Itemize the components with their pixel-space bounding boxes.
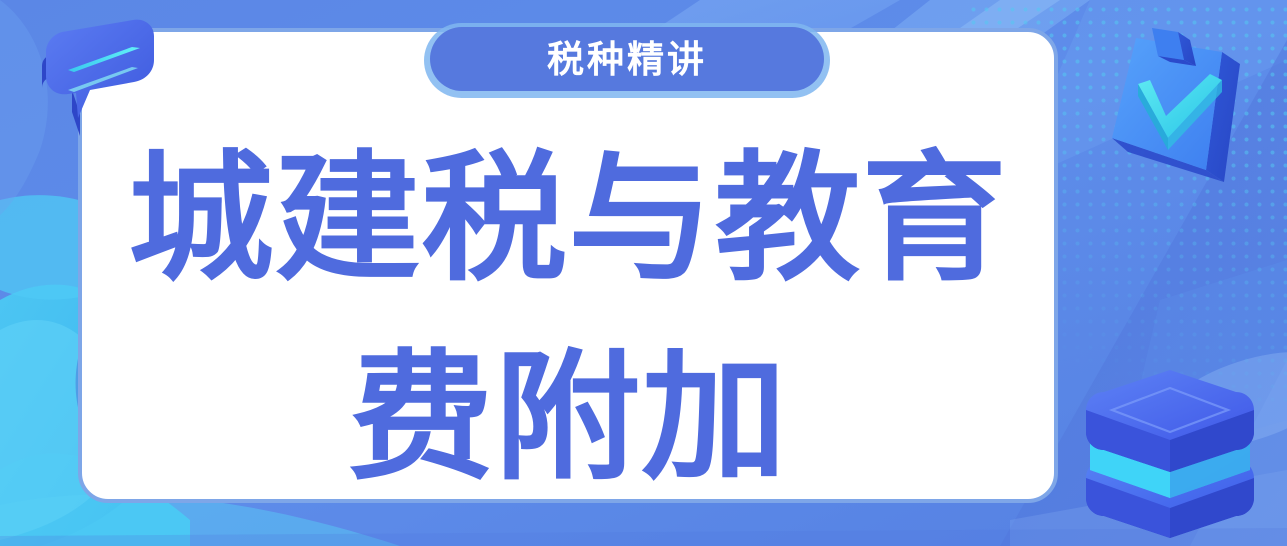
category-badge[interactable]: 税种精讲 xyxy=(430,27,824,91)
banner-root: 税种精讲 城建税与教育 费附加 xyxy=(0,0,1287,546)
stacked-cube-icon xyxy=(1072,346,1268,538)
page-title: 城建税与教育 费附加 xyxy=(78,120,1058,518)
page-title-line-1: 城建税与教育 xyxy=(58,120,1077,319)
speech-bubble-icon xyxy=(28,14,170,152)
page-title-line-2: 费附加 xyxy=(58,319,1077,518)
clipboard-check-icon xyxy=(1092,20,1260,196)
category-badge-label: 税种精讲 xyxy=(547,41,707,78)
